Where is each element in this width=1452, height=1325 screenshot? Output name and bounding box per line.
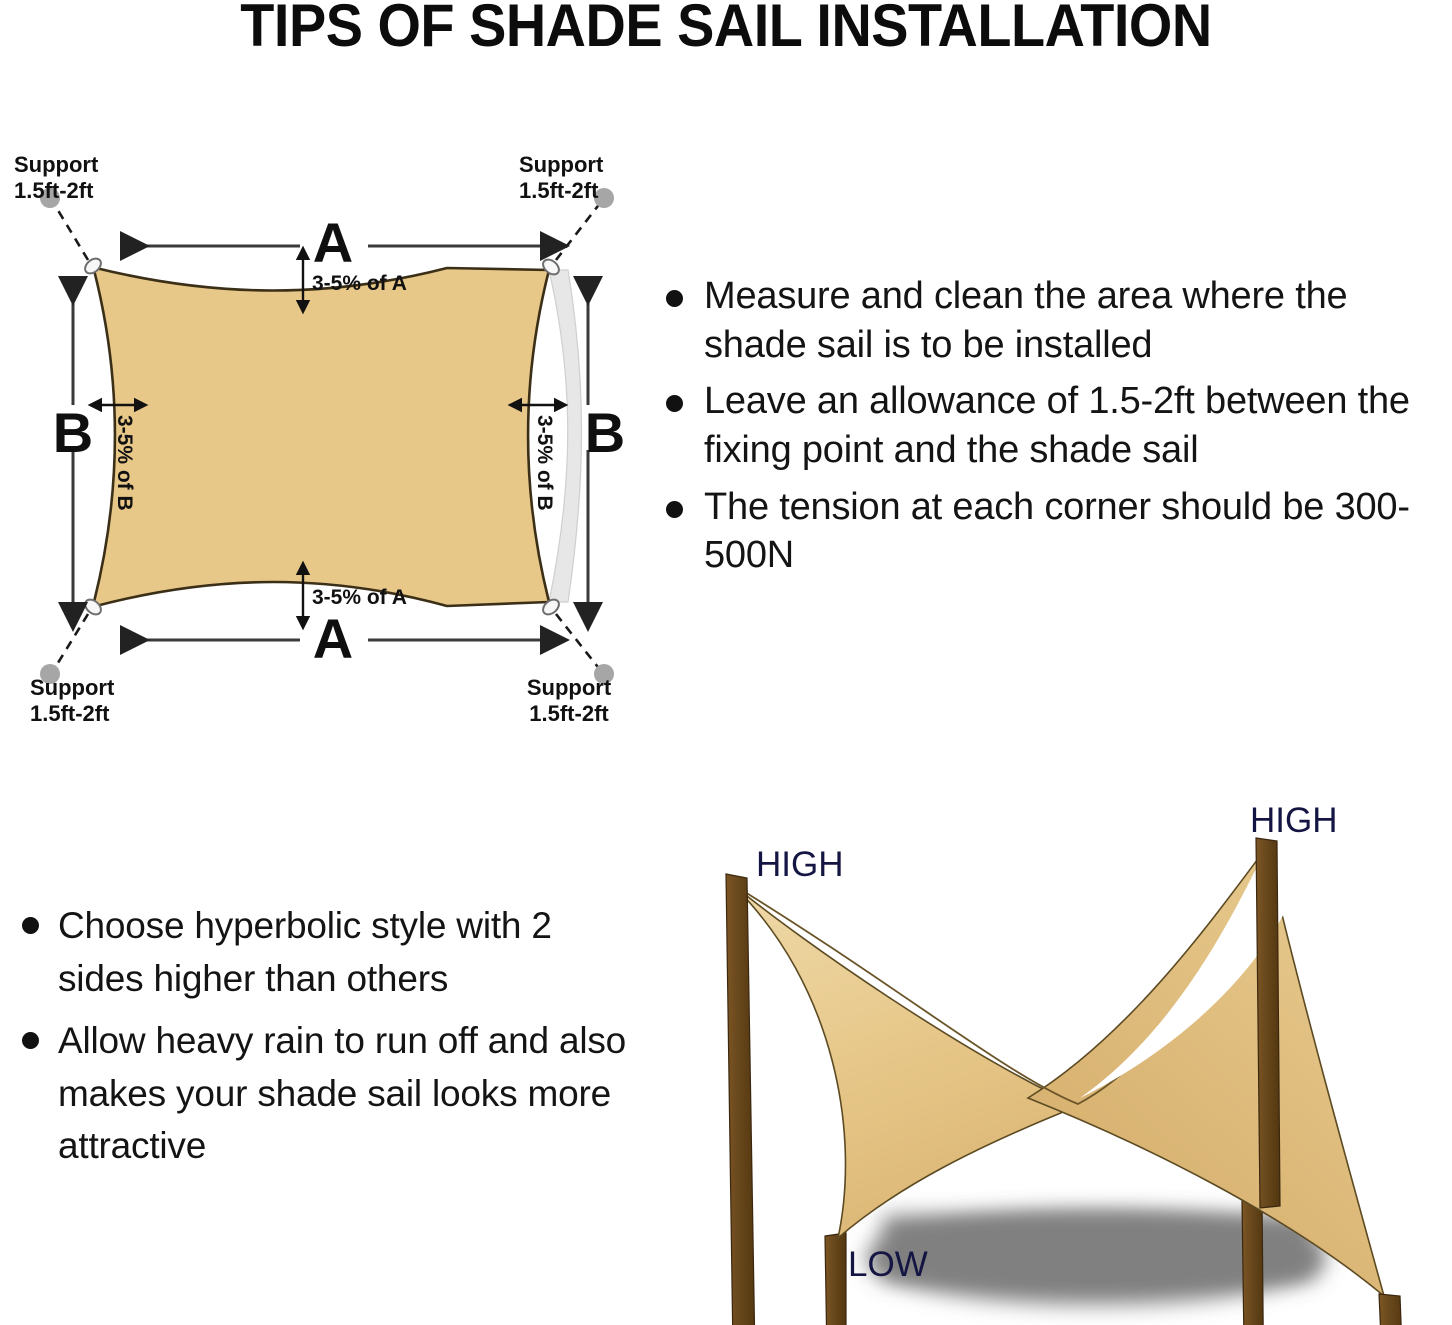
hyperbolic-sail-svg: HIGH HIGH LOW LOW bbox=[648, 786, 1452, 1325]
curve-label-left: 3-5% of B bbox=[113, 415, 136, 511]
sail-lobe-left bbox=[732, 884, 1078, 1238]
post-front-left-high bbox=[726, 874, 756, 1325]
list-item: Allow heavy rain to run off and also mak… bbox=[8, 1015, 630, 1173]
list-item: Choose hyperbolic style with 2 sides hig… bbox=[8, 900, 630, 1005]
dimension-b-right: B bbox=[585, 276, 625, 602]
hyperbolic-tips-list: Choose hyperbolic style with 2 sides hig… bbox=[8, 900, 630, 1173]
shade-sail-shape bbox=[94, 268, 549, 606]
dimension-label-a-bottom: A bbox=[313, 607, 353, 670]
label-high-right: HIGH bbox=[1250, 801, 1338, 840]
rectangle-sail-diagram-svg: Support 1.5ft-2ft Support 1.5ft-2ft Supp… bbox=[0, 150, 660, 750]
post-front-right-low bbox=[1379, 1294, 1405, 1325]
support-label-bottom-right-title: Support bbox=[527, 675, 612, 700]
bullet-dot-icon bbox=[22, 1032, 39, 1049]
bullet-dot-icon bbox=[666, 290, 683, 307]
dimension-b-left: B bbox=[53, 276, 93, 602]
support-label-top-left-value: 1.5ft-2ft bbox=[14, 178, 94, 203]
list-item: Leave an allowance of 1.5-2ft between th… bbox=[652, 377, 1452, 474]
label-high-left: HIGH bbox=[756, 845, 844, 884]
dash-top-right bbox=[556, 202, 601, 260]
support-label-top-right-value: 1.5ft-2ft bbox=[519, 178, 599, 203]
list-item: Measure and clean the area where the sha… bbox=[652, 272, 1452, 369]
bullet-dot-icon bbox=[666, 501, 683, 518]
support-label-bottom-left-value: 1.5ft-2ft bbox=[30, 701, 110, 726]
hyperbolic-tips-panel: Choose hyperbolic style with 2 sides hig… bbox=[8, 900, 630, 1183]
tip-text: Choose hyperbolic style with 2 sides hig… bbox=[58, 905, 552, 999]
tip-text: Allow heavy rain to run off and also mak… bbox=[58, 1020, 626, 1166]
hyperbolic-sail-illustration: HIGH HIGH LOW LOW bbox=[648, 786, 1452, 1325]
curve-indicator-left: 3-5% of B bbox=[102, 405, 136, 511]
dimension-label-b-right: B bbox=[585, 401, 625, 464]
dash-bottom-left bbox=[53, 614, 88, 671]
support-label-bottom-right-value: 1.5ft-2ft bbox=[529, 701, 609, 726]
dash-bottom-right bbox=[556, 614, 601, 671]
curve-label-right: 3-5% of B bbox=[533, 415, 556, 511]
post-rear-right bbox=[1242, 1198, 1264, 1325]
label-low-left: LOW bbox=[848, 1245, 928, 1284]
dimension-a-bottom: A bbox=[120, 607, 540, 670]
bullet-dot-icon bbox=[22, 917, 39, 934]
tip-text: The tension at each corner should be 300… bbox=[704, 486, 1410, 577]
list-item: The tension at each corner should be 300… bbox=[652, 483, 1452, 580]
support-label-top-right-title: Support bbox=[519, 152, 604, 177]
tip-text: Measure and clean the area where the sha… bbox=[704, 275, 1347, 366]
dimension-label-a-top: A bbox=[313, 211, 353, 274]
curve-label-top: 3-5% of A bbox=[312, 272, 407, 295]
bullet-dot-icon bbox=[666, 395, 683, 412]
support-label-bottom-left-title: Support bbox=[30, 675, 115, 700]
support-label-top-left-title: Support bbox=[14, 152, 99, 177]
infographic-page: TIPS OF SHADE SAIL INSTALLATION bbox=[0, 0, 1452, 1325]
tip-text: Leave an allowance of 1.5-2ft between th… bbox=[704, 380, 1410, 471]
dimension-a-top: A bbox=[120, 211, 540, 274]
dash-top-left bbox=[53, 202, 88, 260]
page-title: TIPS OF SHADE SAIL INSTALLATION bbox=[51, 0, 1401, 57]
rectangle-sail-diagram: Support 1.5ft-2ft Support 1.5ft-2ft Supp… bbox=[0, 150, 660, 750]
post-front-right-high bbox=[1256, 838, 1280, 1208]
curve-label-bottom: 3-5% of A bbox=[312, 586, 407, 609]
installation-tips-list: Measure and clean the area where the sha… bbox=[652, 272, 1452, 580]
post-rear-left-low bbox=[825, 1233, 846, 1325]
dimension-label-b-left: B bbox=[53, 401, 93, 464]
installation-tips-panel: Measure and clean the area where the sha… bbox=[652, 272, 1452, 588]
